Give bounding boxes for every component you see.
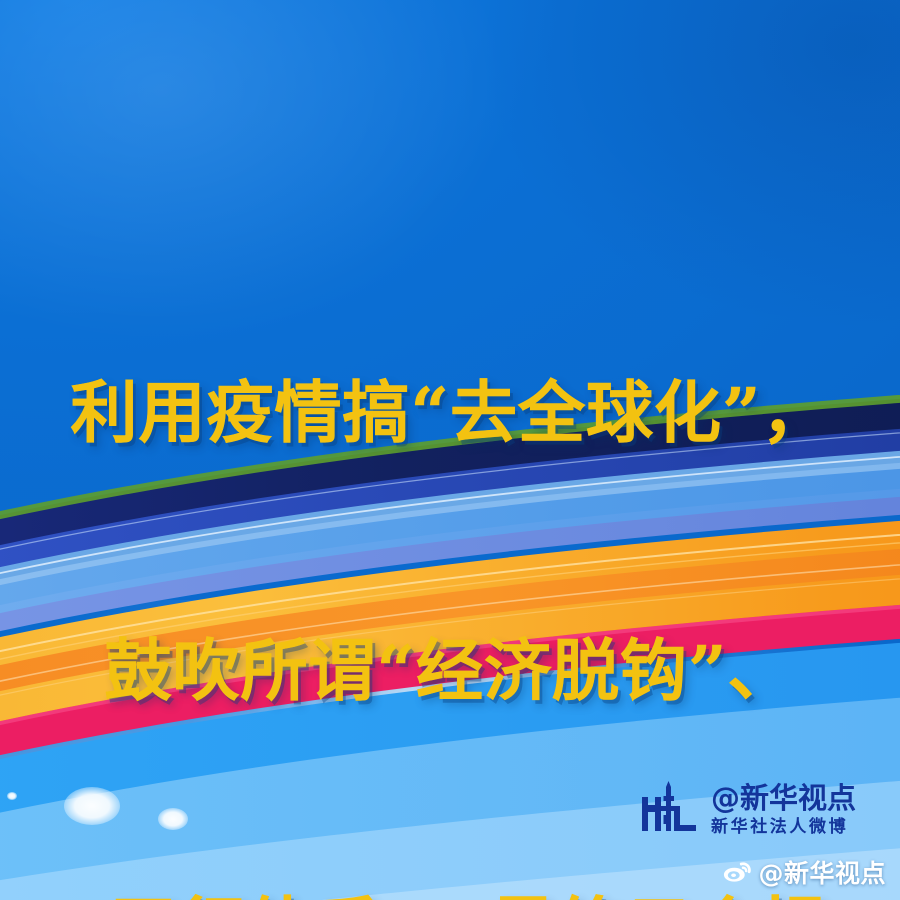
- headline-line-1: 利用疫情搞“去全球化”，: [0, 370, 900, 456]
- weibo-handle: @新华视点: [758, 861, 886, 886]
- weibo-eye-icon: [721, 858, 751, 888]
- headline-line-2: 鼓吹所谓“经济脱钩”、: [0, 628, 900, 714]
- poster-canvas: 利用疫情搞“去全球化”， 鼓吹所谓“经济脱钩”、 “平行体系”，最终只会损 害本…: [0, 0, 900, 900]
- logo-text-block: @新华视点 新华社法人微博: [711, 784, 856, 836]
- logo-subtitle: 新华社法人微博: [711, 819, 856, 836]
- headline-line-3: “平行体系”，最终只会损: [0, 886, 900, 900]
- weibo-watermark[interactable]: @新华视点: [721, 858, 886, 888]
- logo-main-title: @新华视点: [711, 784, 856, 813]
- xinhua-logo-lockup[interactable]: @新华视点 新华社法人微博: [638, 779, 856, 841]
- xinhua-tower-mark-icon: [638, 779, 700, 841]
